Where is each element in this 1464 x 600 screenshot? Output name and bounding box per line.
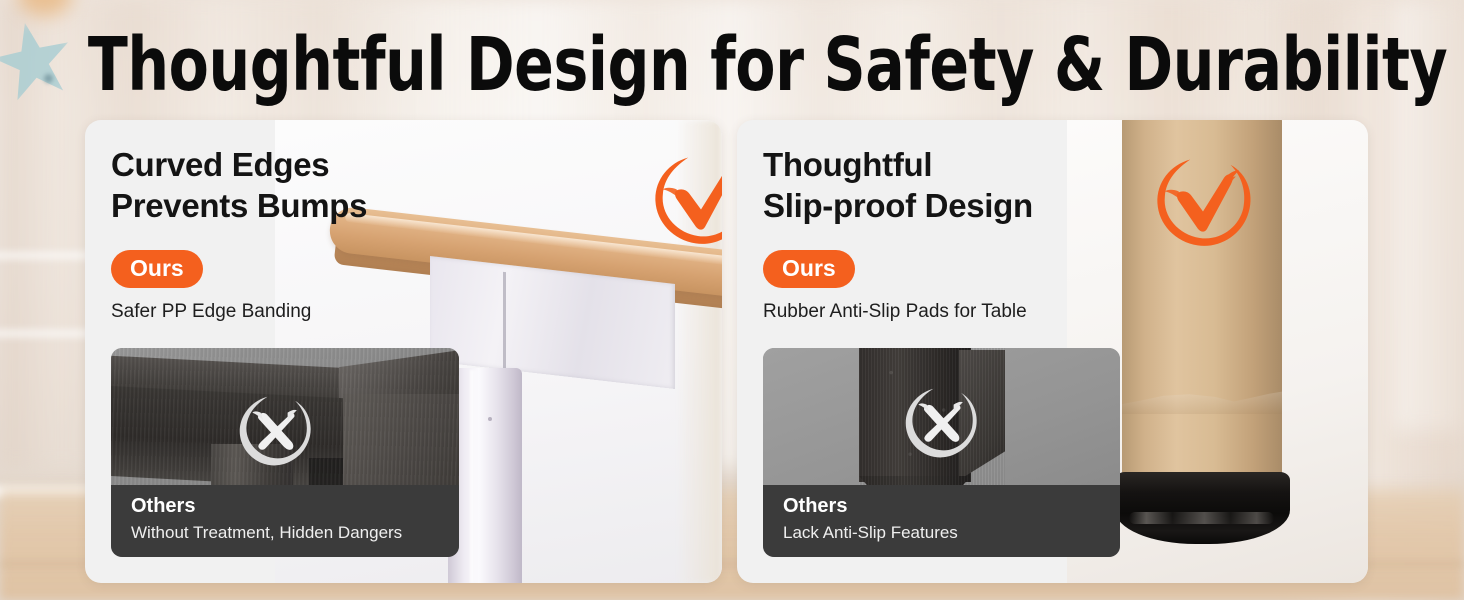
others-label-bar: Others Without Treatment, Hidden Dangers — [111, 485, 459, 557]
rubber-anti-slip-pad — [1115, 472, 1290, 544]
table-leg-highlight — [470, 370, 479, 583]
ours-badge: Ours — [763, 250, 855, 288]
orange-brush-check-icon — [1150, 150, 1256, 256]
others-description: Lack Anti-Slip Features — [783, 521, 1120, 544]
ours-description: Rubber Anti-Slip Pads for Table — [763, 300, 1133, 324]
card-heading: Thoughtful Slip-proof Design — [763, 144, 1133, 226]
gray-brush-x-icon — [899, 382, 983, 466]
rubber-pad-highlight — [1129, 512, 1274, 524]
card-text-block: Thoughtful Slip-proof Design Ours Rubber… — [763, 144, 1133, 324]
others-title: Others — [131, 494, 459, 519]
feature-card-slip-proof: Thoughtful Slip-proof Design Ours Rubber… — [737, 120, 1368, 583]
ours-description: Safer PP Edge Banding — [111, 300, 481, 324]
feature-cards-container: Curved Edges Prevents Bumps Ours Safer P… — [85, 120, 1368, 583]
card-heading: Curved Edges Prevents Bumps — [111, 144, 481, 226]
gray-brush-x-icon — [233, 390, 317, 474]
feature-card-curved-edges: Curved Edges Prevents Bumps Ours Safer P… — [85, 120, 722, 583]
page-title: Thoughtful Design for Safety & Durabilit… — [88, 26, 1376, 104]
others-label-bar: Others Lack Anti-Slip Features — [763, 485, 1120, 557]
table-leg — [448, 368, 522, 583]
ours-badge: Ours — [111, 250, 203, 288]
table-apron-seam — [503, 272, 506, 378]
table-leg-screw — [488, 417, 492, 421]
others-description: Without Treatment, Hidden Dangers — [131, 521, 459, 544]
others-title: Others — [783, 494, 1120, 519]
others-comparison-image: Others Without Treatment, Hidden Dangers — [111, 348, 459, 557]
star-decoration-dot — [44, 74, 53, 83]
orange-brush-check-icon — [648, 148, 722, 254]
others-comparison-image: Others Lack Anti-Slip Features — [763, 348, 1120, 557]
card-text-block: Curved Edges Prevents Bumps Ours Safer P… — [111, 144, 481, 324]
